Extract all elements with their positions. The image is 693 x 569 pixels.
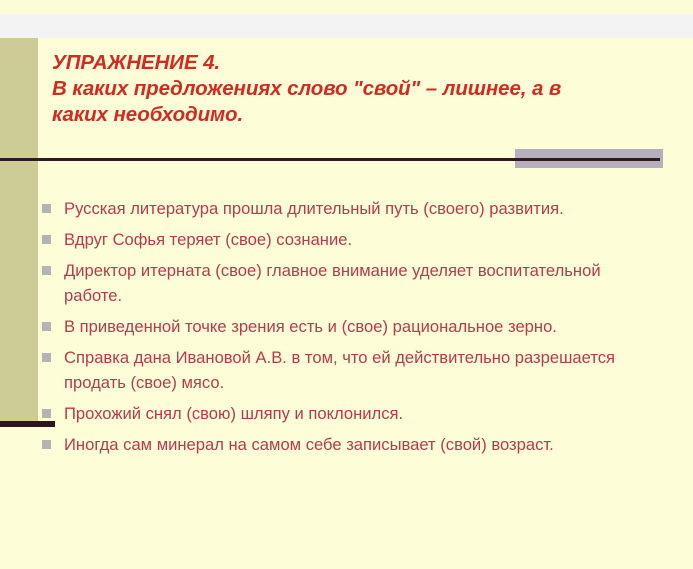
- square-bullet-icon: [42, 266, 51, 275]
- left-accent-band: [0, 38, 38, 427]
- list-item: Прохожий снял (свою) шляпу и поклонился.: [38, 401, 678, 426]
- list-item: Справка дана Ивановой А.В. в том, что ей…: [38, 345, 678, 395]
- top-white-band: [0, 14, 693, 38]
- square-bullet-icon: [42, 440, 51, 449]
- list-item: Иногда сам минерал на самом себе записыв…: [38, 432, 678, 457]
- title-line-1: УПРАЖНЕНИЕ 4.: [52, 50, 652, 76]
- square-bullet-icon: [42, 409, 51, 418]
- list-item: Русская литература прошла длительный пут…: [38, 196, 678, 221]
- list-item-text: Русская литература прошла длительный пут…: [64, 196, 619, 221]
- bullet-list: Русская литература прошла длительный пут…: [38, 196, 678, 463]
- list-item: Директор итерната (свое) главное внимани…: [38, 258, 678, 308]
- top-sliver: [0, 0, 693, 14]
- square-bullet-icon: [42, 204, 51, 213]
- list-item-text: В приведенной точке зрения есть и (свое)…: [64, 314, 619, 339]
- title-line-3: каких необходимо.: [52, 102, 652, 128]
- square-bullet-icon: [42, 353, 51, 362]
- list-item-text: Иногда сам минерал на самом себе записыв…: [64, 432, 619, 457]
- title-line-2: В каких предложениях слово "свой" – лишн…: [52, 76, 652, 102]
- slide: УПРАЖНЕНИЕ 4. В каких предложениях слово…: [0, 0, 693, 569]
- list-item: В приведенной точке зрения есть и (свое)…: [38, 314, 678, 339]
- list-item-text: Директор итерната (свое) главное внимани…: [64, 258, 619, 308]
- list-item-text: Прохожий снял (свою) шляпу и поклонился.: [64, 401, 619, 426]
- slide-title: УПРАЖНЕНИЕ 4. В каких предложениях слово…: [52, 50, 652, 128]
- list-item-text: Справка дана Ивановой А.В. в том, что ей…: [64, 345, 619, 395]
- title-divider-line: [0, 158, 660, 161]
- square-bullet-icon: [42, 235, 51, 244]
- list-item-text: Вдруг Софья теряет (свое) сознание.: [64, 227, 619, 252]
- square-bullet-icon: [42, 322, 51, 331]
- list-item: Вдруг Софья теряет (свое) сознание.: [38, 227, 678, 252]
